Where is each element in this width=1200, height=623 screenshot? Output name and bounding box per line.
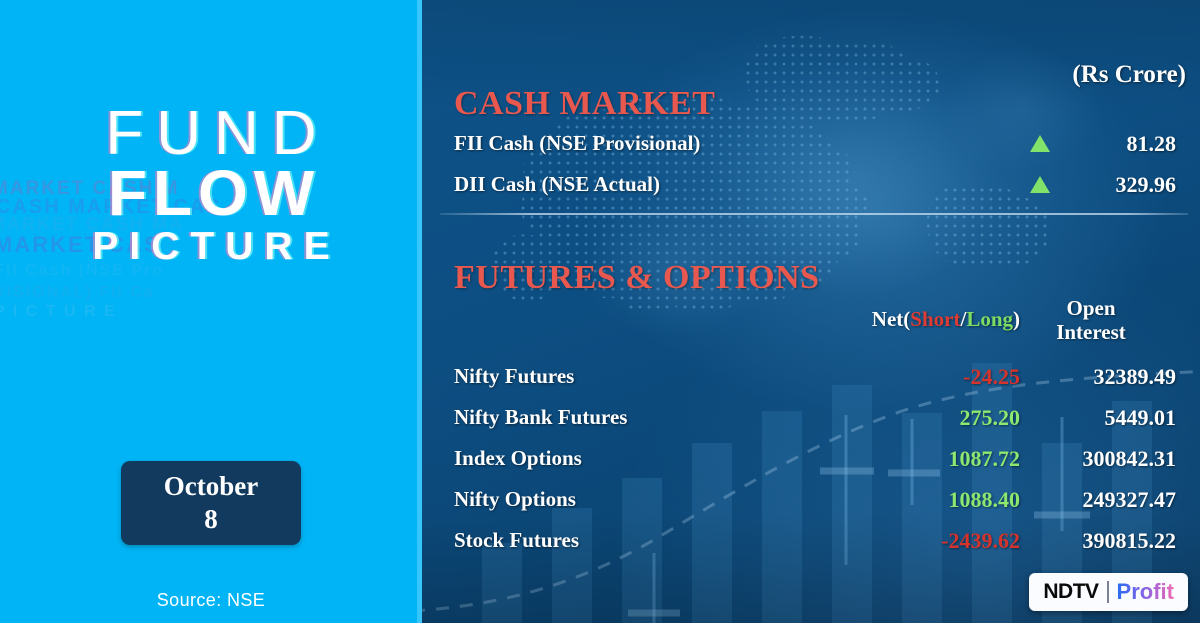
fo-row-index-options: Index Options 1087.72 300842.31 (422, 446, 1200, 476)
column-header-open-interest: Open Interest (1006, 296, 1176, 344)
logo-profit-text: Profit (1117, 579, 1174, 605)
cash-row-dii: DII Cash (NSE Actual) 329.96 (422, 172, 1200, 202)
data-content: (Rs Crore) CASH MARKET FII Cash (NSE Pro… (422, 0, 1200, 623)
brand-wordmark: FUND FLOW PICTURE (0, 103, 422, 266)
oi-header-line1: Open (1006, 296, 1176, 320)
column-header-net: Net(Short/Long) (862, 307, 1020, 332)
cash-market-heading: CASH MARKET (454, 85, 715, 123)
fo-row-nifty-options: Nifty Options 1088.40 249327.47 (422, 487, 1200, 517)
cash-row-fii: FII Cash (NSE Provisional) 81.28 (422, 131, 1200, 161)
logo-separator (1107, 581, 1109, 603)
date-day: 8 (204, 503, 218, 536)
fo-row-label: Index Options (454, 446, 582, 471)
logo-ndtv-text: NDTV (1043, 580, 1098, 604)
fo-row-nifty-bank-futures: Nifty Bank Futures 275.20 5449.01 (422, 405, 1200, 435)
fo-row-open-interest: 32389.49 (966, 364, 1176, 390)
fo-row-nifty-futures: Nifty Futures -24.25 32389.49 (422, 364, 1200, 394)
futures-options-heading: FUTURES & OPTIONS (454, 259, 820, 297)
panel-divider-edge (417, 0, 422, 623)
fo-row-label: Nifty Bank Futures (454, 405, 627, 430)
left-branding-panel: MARKET CASH M CASH MARKET CAS MARKET CAS… (0, 0, 422, 623)
fo-row-open-interest: 300842.31 (966, 446, 1176, 472)
fo-row-label: Stock Futures (454, 528, 579, 553)
arrow-up-icon (1030, 135, 1050, 152)
fund-flow-graphic: MARKET CASH M CASH MARKET CAS MARKET CAS… (0, 0, 1200, 623)
fo-row-open-interest: 390815.22 (966, 528, 1176, 554)
cash-row-value: 329.96 (1116, 172, 1177, 198)
fo-row-open-interest: 5449.01 (966, 405, 1176, 431)
net-short-label: Short (910, 307, 960, 331)
date-month: October (164, 470, 258, 503)
ndtv-profit-logo: NDTV Profit (1029, 573, 1188, 611)
arrow-up-icon (1030, 176, 1050, 193)
fo-row-stock-futures: Stock Futures -2439.62 390815.22 (422, 528, 1200, 558)
cash-row-label: FII Cash (NSE Provisional) (454, 131, 700, 156)
unit-note: (Rs Crore) (1072, 61, 1186, 89)
date-badge: October 8 (121, 461, 301, 545)
cash-row-value: 81.28 (1127, 131, 1177, 157)
glitch-artifact-6: VISIONAL) FII Ca (0, 284, 155, 302)
net-prefix: Net( (872, 307, 910, 331)
data-panel: (Rs Crore) CASH MARKET FII Cash (NSE Pro… (422, 0, 1200, 623)
cash-row-label: DII Cash (NSE Actual) (454, 172, 660, 197)
brand-line-fund: FUND (0, 103, 422, 165)
section-divider (440, 213, 1188, 215)
brand-line-picture: PICTURE (0, 227, 422, 266)
fo-row-open-interest: 249327.47 (966, 487, 1176, 513)
fo-row-label: Nifty Futures (454, 364, 574, 389)
oi-header-line2: Interest (1006, 320, 1176, 344)
source-label: Source: NSE (0, 590, 422, 611)
glitch-artifact-7: P I C T U R E (0, 303, 117, 321)
fo-row-label: Nifty Options (454, 487, 576, 512)
brand-line-flow: FLOW (0, 161, 422, 225)
